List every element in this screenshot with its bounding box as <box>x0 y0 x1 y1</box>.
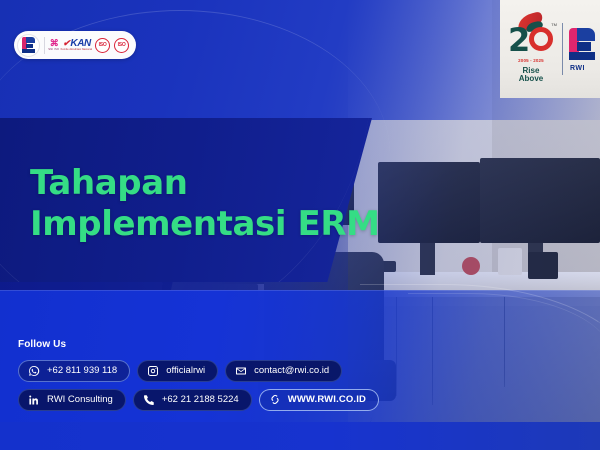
kan-check-icon: ✔ <box>63 39 70 48</box>
iso-seal-1-icon: ISO <box>95 38 110 53</box>
contact-pill-whatsapp[interactable]: +62 811 939 118 <box>18 360 130 382</box>
decorative-swoosh-2 <box>408 293 600 357</box>
contact-pill-label: contact@rwi.co.id <box>254 366 329 376</box>
contact-pill-label: +62 811 939 118 <box>47 366 117 376</box>
contact-pill-label: WWW.RWI.CO.ID <box>288 395 366 405</box>
footer-bar <box>0 422 600 450</box>
contact-pill-phone[interactable]: +62 21 2188 5224 <box>133 389 252 411</box>
slide-canvas: ⌘ SNI ISO ✔KAN Komite Akreditasi Nasiona… <box>0 0 600 450</box>
trademark-mark: TM <box>551 23 557 27</box>
kan-text: KAN <box>70 39 90 49</box>
kan-logo-icon: ✔KAN Komite Akreditasi Nasional <box>62 39 91 52</box>
badge-divider <box>44 37 45 54</box>
tagline-line-2: Above <box>519 74 543 83</box>
anniversary-20-logo: 2 TM 2005 - 2025 Rise Above <box>506 14 556 83</box>
iso-seal-2-icon: ISO <box>114 38 129 53</box>
contact-pill-groups: +62 811 939 118 officialrwi contact@rwi.… <box>18 360 418 411</box>
contact-row-2: RWI Consulting +62 21 2188 5224 WWW.RWI.… <box>18 389 418 411</box>
certification-badge: ⌘ SNI ISO ✔KAN Komite Akreditasi Nasiona… <box>14 31 136 59</box>
instagram-icon <box>147 365 159 377</box>
title-line-1: Tahapan <box>30 163 188 203</box>
anniversary-years: 2005 - 2025 <box>518 59 544 64</box>
anniversary-numeral: 2 <box>508 24 530 56</box>
contact-pill-label: officialrwi <box>166 366 205 376</box>
anniversary-tagline: Rise Above <box>519 67 543 84</box>
contact-pill-linkedin[interactable]: RWI Consulting <box>18 389 126 411</box>
rwi-company-logo-icon: RWI <box>569 26 595 72</box>
contact-pill-label: RWI Consulting <box>47 395 113 405</box>
rwi-wordmark: RWI <box>570 65 585 72</box>
follow-us-label: Follow Us <box>18 339 66 350</box>
page-title: Tahapan Implementasi ERM <box>30 163 430 246</box>
contact-pill-label: +62 21 2188 5224 <box>162 395 239 405</box>
contact-row-1: +62 811 939 118 officialrwi contact@rwi.… <box>18 360 418 382</box>
contact-pill-website[interactable]: WWW.RWI.CO.ID <box>259 389 379 411</box>
whatsapp-icon <box>28 365 40 377</box>
rwi-logo-icon <box>17 34 40 57</box>
logo-divider <box>562 23 563 75</box>
sns-caption: SNI ISO <box>48 48 59 51</box>
kan-caption: Komite Akreditasi Nasional <box>61 49 92 52</box>
email-icon <box>235 365 247 377</box>
contact-pill-email[interactable]: contact@rwi.co.id <box>225 360 342 382</box>
website-icon <box>269 394 281 406</box>
title-line-2: Implementasi ERM <box>30 204 430 245</box>
linkedin-icon <box>28 394 40 406</box>
phone-icon <box>143 394 155 406</box>
anniversary-zero-ring-icon <box>529 27 553 51</box>
contact-pill-instagram[interactable]: officialrwi <box>137 360 218 382</box>
anniversary-logo-block: 2 TM 2005 - 2025 Rise Above RWI <box>500 0 600 98</box>
sns-accreditation-logo-icon: ⌘ SNI ISO <box>49 39 58 51</box>
